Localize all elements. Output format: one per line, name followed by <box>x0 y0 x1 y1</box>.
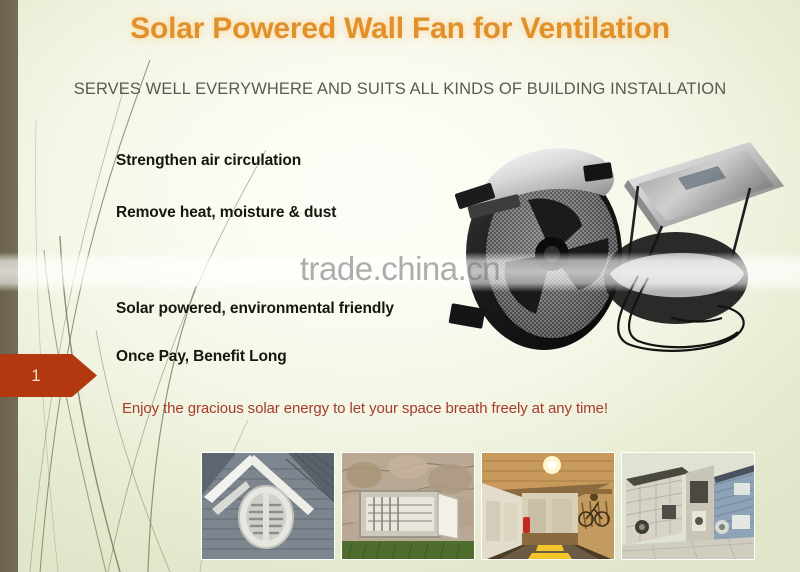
list-item: Remove heat, moisture & dust <box>116 204 336 222</box>
page-title: Solar Powered Wall Fan for Ventilation <box>0 12 800 46</box>
thumbnail-strip <box>201 452 781 560</box>
thumbnail-exterior-wall-installations <box>621 452 755 560</box>
thumbnail-garage-interior <box>481 452 615 560</box>
slide-number-label: 1 <box>0 354 72 397</box>
list-item: Once Pay, Benefit Long <box>116 348 287 366</box>
thumbnail-foundation-wall-vent <box>341 452 475 560</box>
list-item: Strengthen air circulation <box>116 152 301 170</box>
slide-canvas: Solar Powered Wall Fan for Ventilation S… <box>0 0 800 572</box>
tagline-text: Enjoy the gracious solar energy to let y… <box>122 400 608 417</box>
page-subtitle: SERVES WELL EVERYWHERE AND SUITS ALL KIN… <box>0 80 800 99</box>
hero-product-image <box>432 128 800 356</box>
slide-number-banner: 1 <box>0 354 97 397</box>
thumbnail-gable-roof-vent <box>201 452 335 560</box>
list-item: Solar powered, environmental friendly <box>116 300 394 318</box>
